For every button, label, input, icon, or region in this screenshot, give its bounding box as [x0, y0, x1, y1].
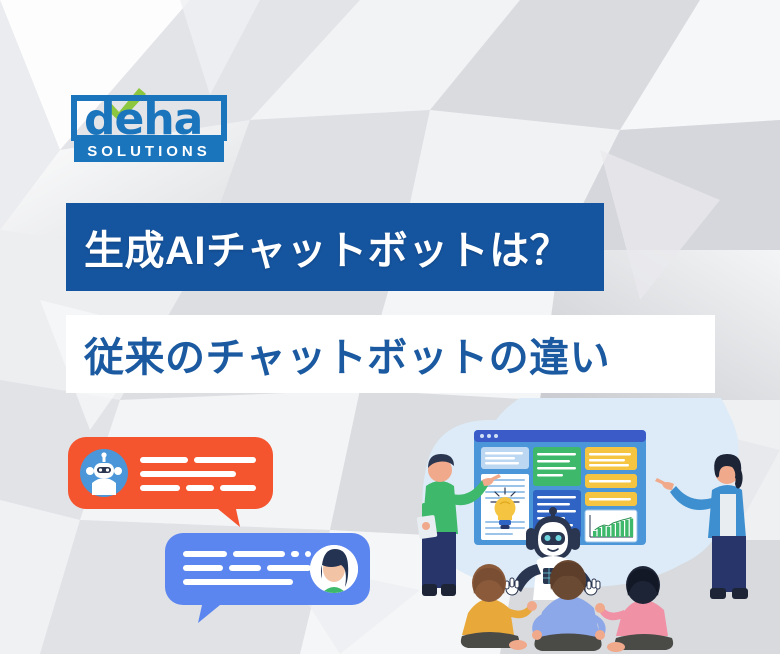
headline-line-2: 従来のチャットボットの違い: [84, 325, 610, 383]
logo-wordmark: deha: [84, 94, 202, 145]
user-chat-bubble[interactable]: [165, 533, 370, 605]
ai-chatbot-presentation-illustration: [396, 398, 780, 654]
bar-chart-panel: [585, 510, 637, 542]
card-yellow-mid-right: [585, 474, 637, 488]
headline-line-1: 生成AIチャットボットは？: [84, 218, 570, 276]
poster-canvas: deha SOLUTIONS 生成AIチャットボットは？ 従来のチャットボットの…: [0, 0, 780, 654]
card-green-top-mid: [533, 447, 581, 486]
card-yellow-low-right: [585, 492, 637, 506]
robot-avatar-icon: [80, 449, 128, 497]
bot-chat-bubble[interactable]: [68, 437, 273, 509]
headline-bar-primary: 生成AIチャットボットは？: [66, 203, 604, 291]
brand-logo[interactable]: deha SOLUTIONS: [66, 78, 232, 166]
logo-subtitle: SOLUTIONS: [87, 143, 211, 160]
card-blue-top-left: [481, 447, 529, 469]
headline-bar-secondary: 従来のチャットボットの違い: [66, 315, 715, 393]
card-yellow-top-right: [585, 447, 637, 470]
